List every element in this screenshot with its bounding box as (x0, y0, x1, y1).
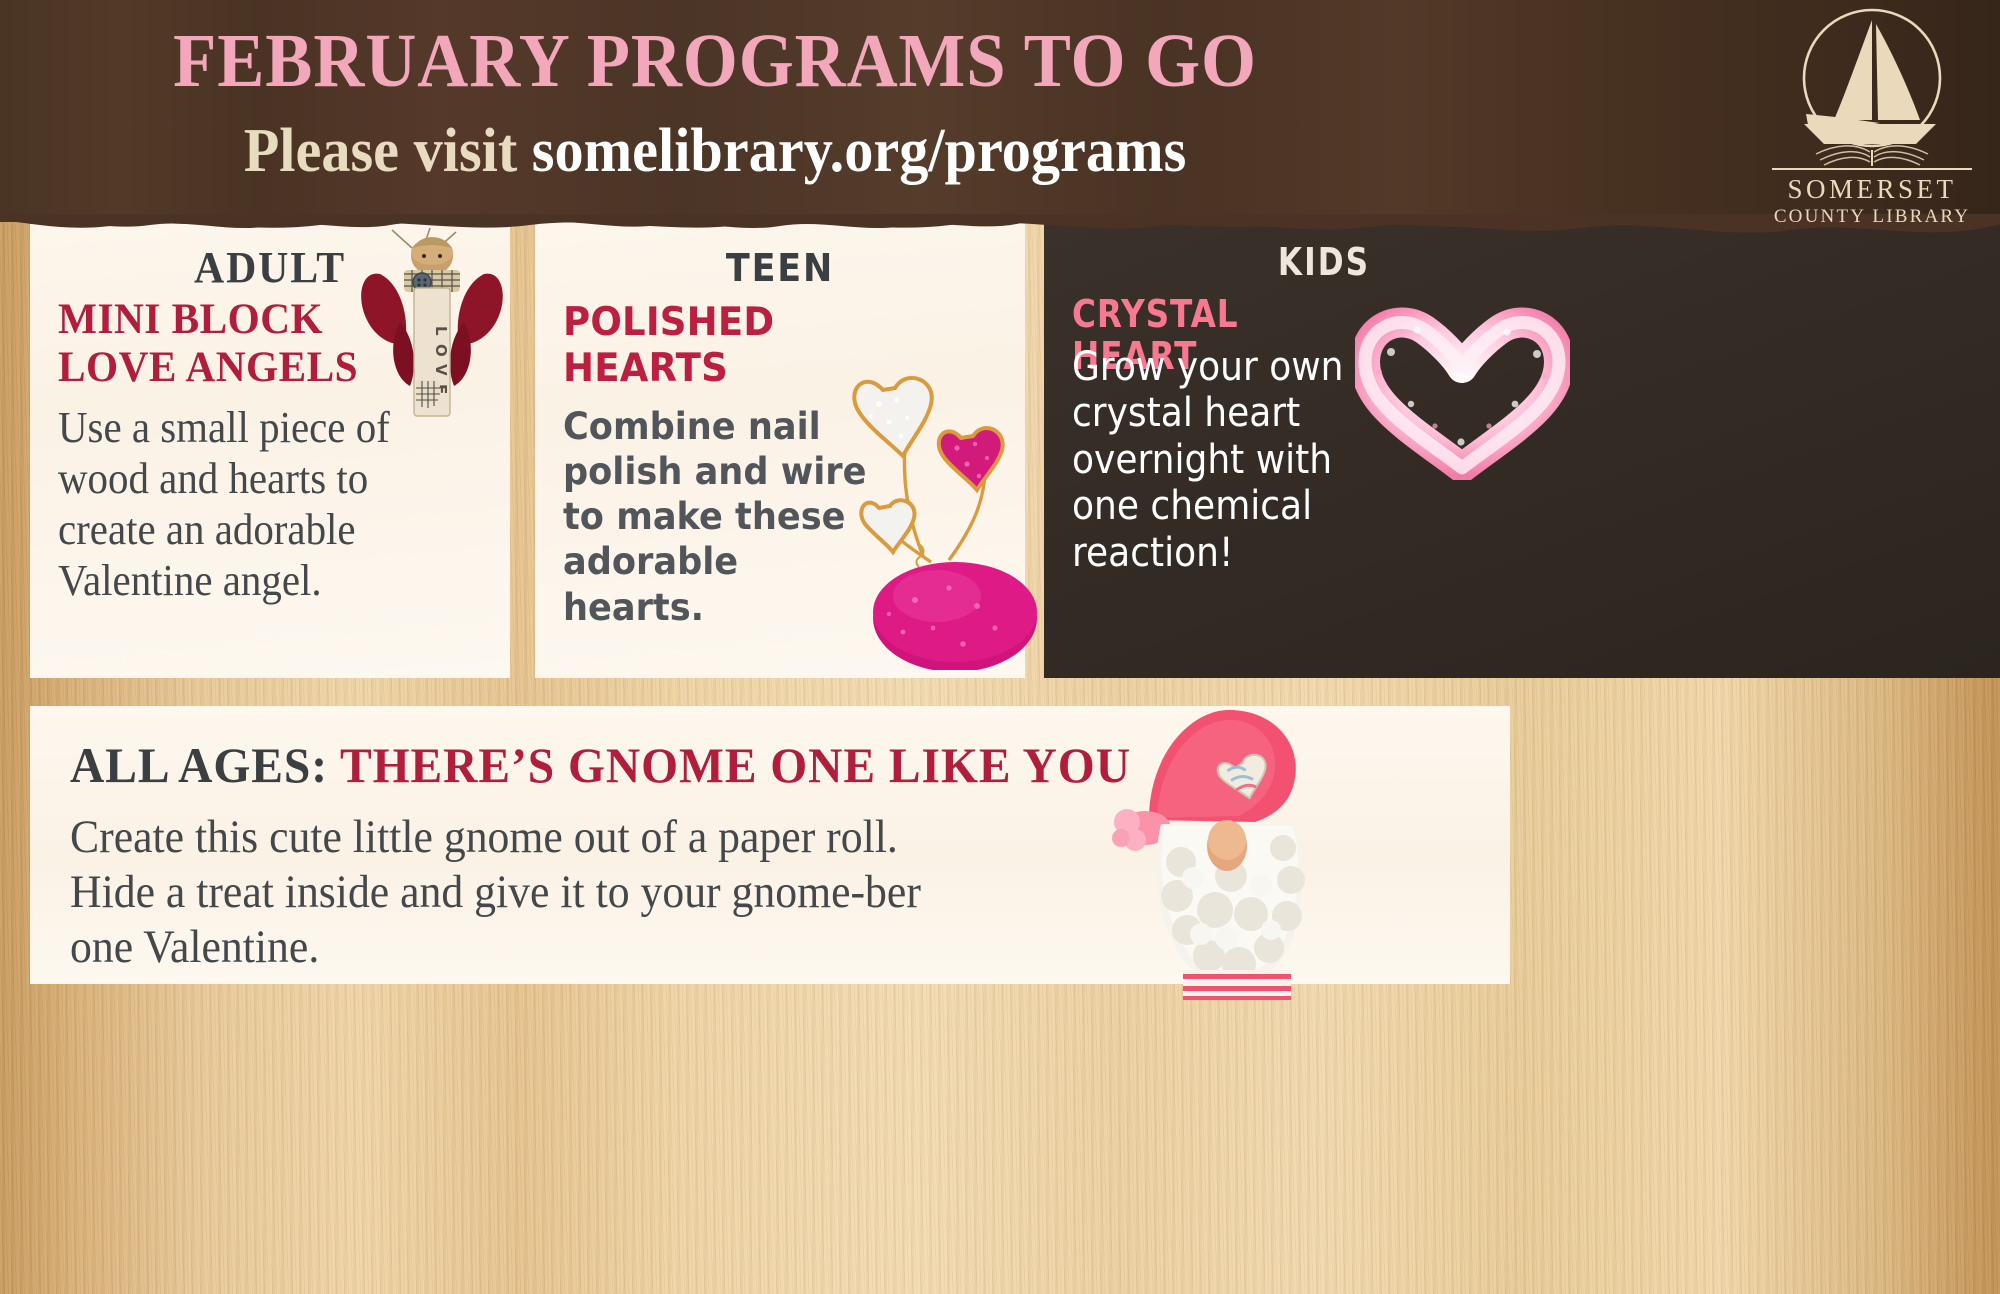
logo-wordmark-line-2: COUNTY LIBRARY (1768, 207, 1976, 226)
panel-teen-audience: TEEN (555, 246, 1006, 290)
panel-teen-description: Combine nail polish and wire to make the… (563, 404, 877, 630)
panel-adult-program-line-2: LOVE ANGELS (58, 344, 375, 392)
logo-divider-rule (1772, 168, 1972, 170)
svg-text:V: V (432, 364, 450, 377)
subtitle-url[interactable]: somelibrary.org/programs (532, 117, 1186, 185)
all-ages-program: THERE’S GNOME ONE LIKE YOU (340, 737, 1131, 793)
page-subtitle: Please visit somelibrary.org/programs (43, 116, 1387, 187)
header-torn-edge (0, 214, 2000, 248)
library-logo: SOMERSET COUNTY LIBRARY (1768, 4, 1976, 216)
subtitle-lead: Please visit (244, 117, 532, 185)
logo-wordmark-line-1: SOMERSET (1768, 176, 1976, 203)
header-banner: FEBRUARY PROGRAMS TO GO Please visit som… (0, 0, 2000, 222)
all-ages-heading: ALL AGES: THERE’S GNOME ONE LIKE YOU (70, 736, 1131, 794)
panel-teen-program: POLISHED HEARTS (563, 300, 877, 392)
wire-nail-polish-hearts-photo (845, 360, 1050, 670)
paper-roll-valentine-gnome-photo (1105, 700, 1335, 1000)
pink-crystal-heart-photo (1355, 300, 1570, 480)
sailboat-over-open-book-icon (1768, 4, 1976, 166)
svg-text:L: L (432, 326, 450, 337)
panel-adult-program-line-1: MINI BLOCK (58, 296, 375, 344)
panel-teen-program-line-2: HEARTS (563, 346, 877, 392)
all-ages-label: ALL AGES: (70, 737, 340, 793)
panel-adult-program: MINI BLOCK LOVE ANGELS (58, 296, 375, 392)
page-title: FEBRUARY PROGRAMS TO GO (50, 18, 1380, 105)
panel-teen-program-line-1: POLISHED (563, 300, 877, 346)
panel-kids-description: Grow your own crystal heart overnight wi… (1072, 344, 1396, 576)
all-ages-description: Create this cute little gnome out of a p… (70, 810, 991, 975)
wooden-block-love-angel-photo: L O V E (352, 226, 512, 446)
svg-text:O: O (432, 344, 450, 358)
